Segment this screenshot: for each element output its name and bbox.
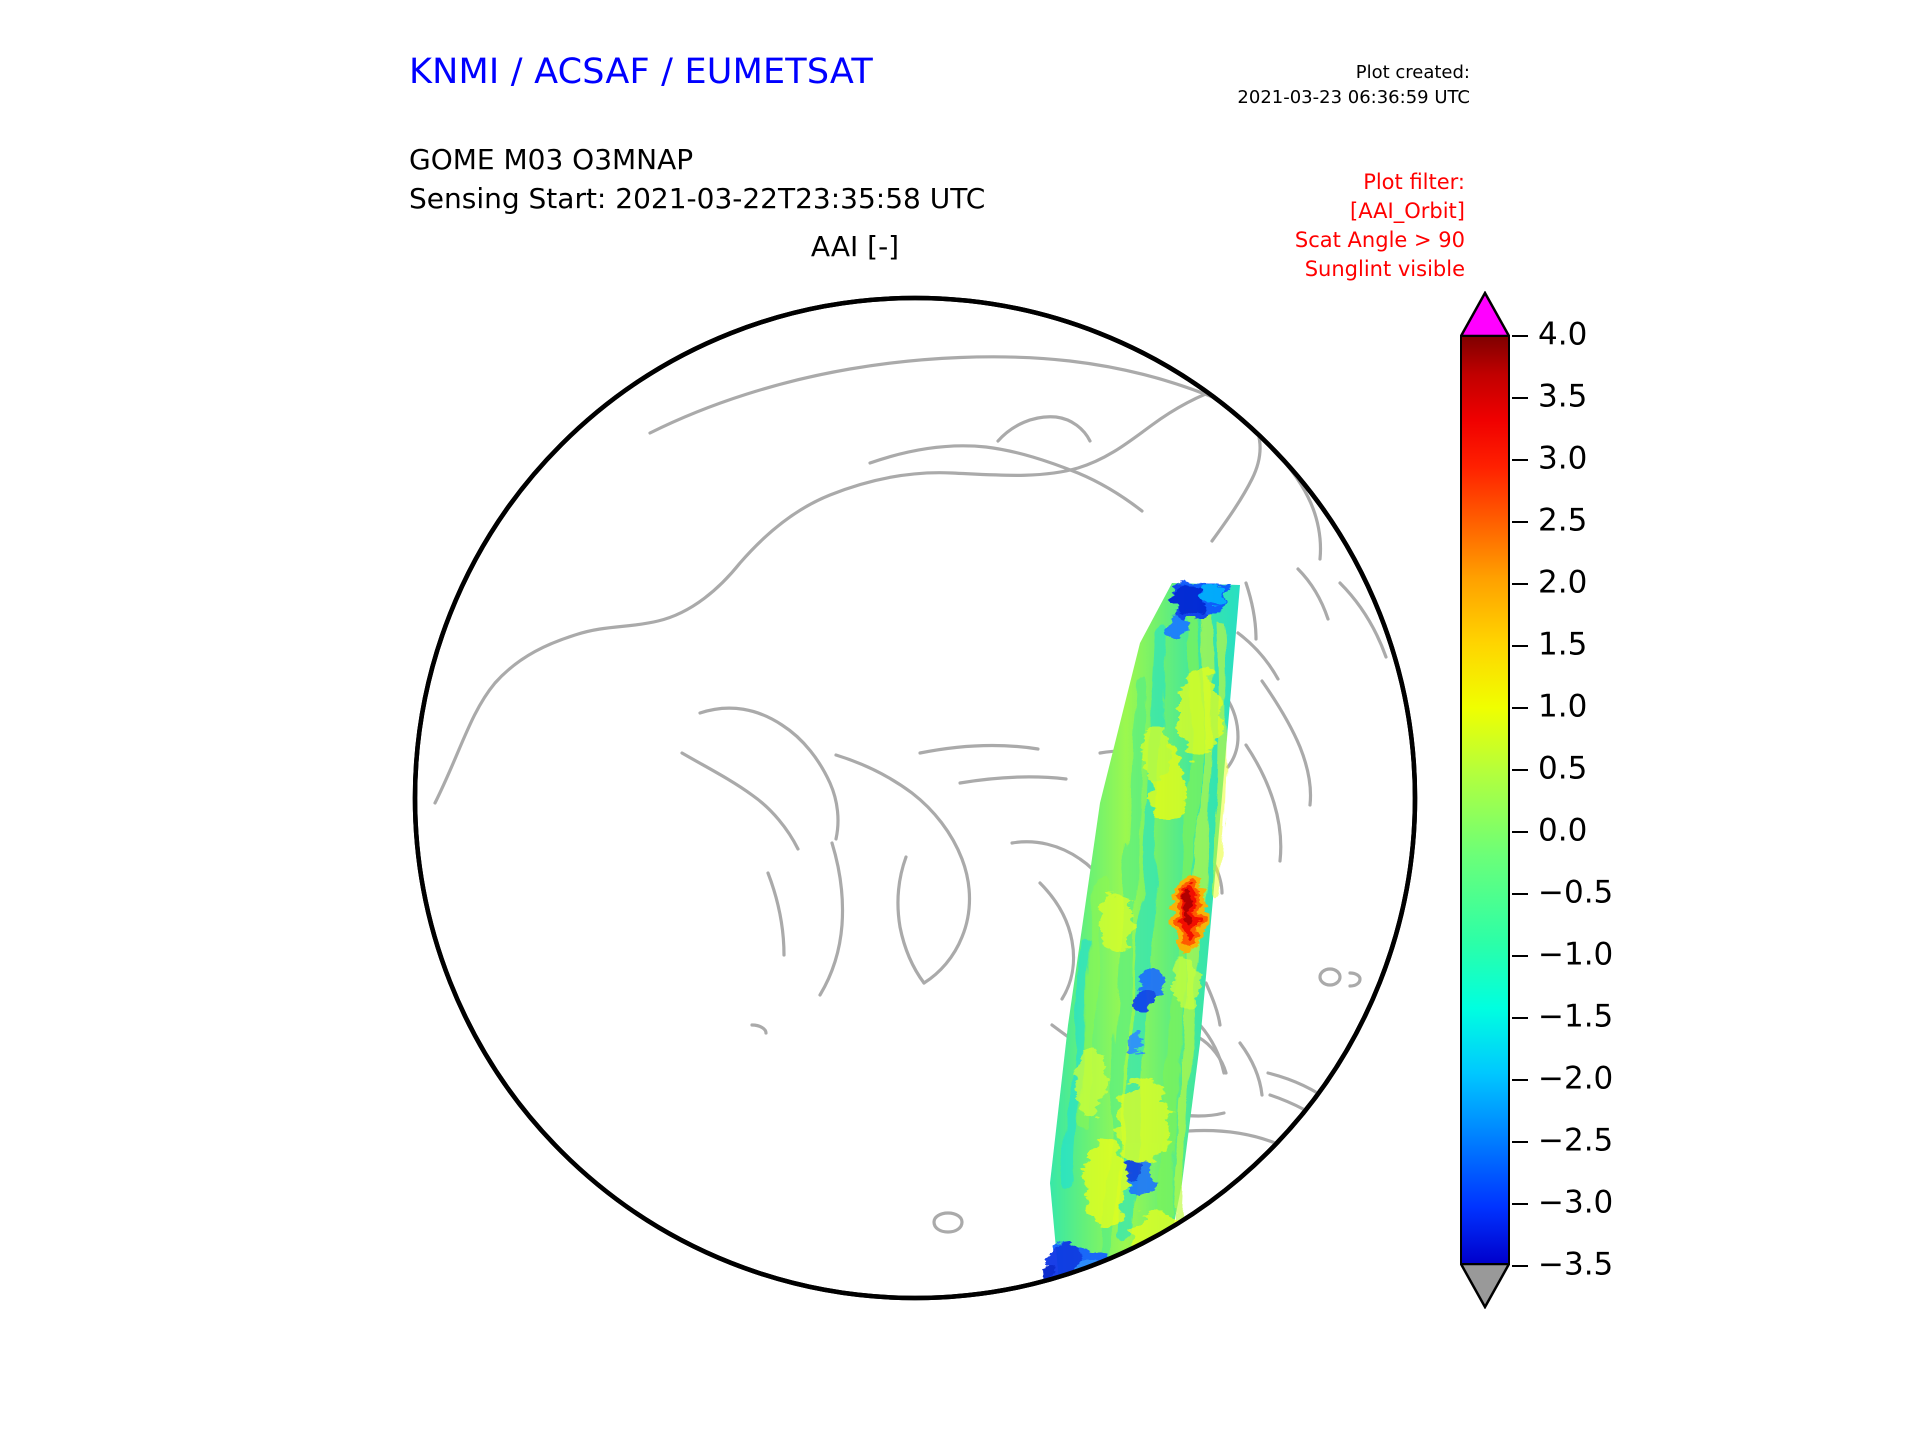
colorbar-over-arrow xyxy=(1460,291,1510,337)
colorbar-tick xyxy=(1512,583,1528,585)
colorbar-tick-label: −3.5 xyxy=(1538,1250,1613,1281)
colorbar-tick xyxy=(1512,397,1528,399)
colorbar-gradient xyxy=(1460,335,1510,1265)
product-name: GOME M03 O3MNAP xyxy=(409,140,985,179)
globe-orthographic-projection xyxy=(400,283,1430,1313)
colorbar[interactable]: 4.03.53.02.52.01.51.00.50.0−0.5−1.0−1.5−… xyxy=(1448,285,1748,1310)
plot-filter-name: [AAI_Orbit] xyxy=(1295,197,1465,226)
colorbar-tick xyxy=(1512,1141,1528,1143)
colorbar-tick xyxy=(1512,707,1528,709)
colorbar-tick xyxy=(1512,1079,1528,1081)
colorbar-tick xyxy=(1512,1017,1528,1019)
quantity-label: AAI [-] xyxy=(811,230,899,263)
colorbar-tick-label: 3.0 xyxy=(1538,444,1587,475)
colorbar-tick-label: −3.0 xyxy=(1538,1188,1613,1219)
colorbar-tick-label: 1.0 xyxy=(1538,692,1587,723)
globe-outline xyxy=(415,298,1415,1298)
colorbar-tick xyxy=(1512,769,1528,771)
product-info-block: GOME M03 O3MNAP Sensing Start: 2021-03-2… xyxy=(409,140,985,218)
colorbar-tick-label: −2.5 xyxy=(1538,1126,1613,1157)
colorbar-tick xyxy=(1512,1265,1528,1267)
colorbar-tick xyxy=(1512,831,1528,833)
plot-filter-condition-scat-angle: Scat Angle > 90 xyxy=(1295,226,1465,255)
colorbar-under-arrow xyxy=(1460,1263,1510,1309)
colorbar-tick xyxy=(1512,1203,1528,1205)
colorbar-tick xyxy=(1512,645,1528,647)
aerosol-plume-hotspot xyxy=(1172,872,1206,952)
colorbar-tick-label: 3.5 xyxy=(1538,382,1587,413)
sensing-start: Sensing Start: 2021-03-22T23:35:58 UTC xyxy=(409,179,985,218)
colorbar-tick-label: −0.5 xyxy=(1538,878,1613,909)
colorbar-tick xyxy=(1512,459,1528,461)
colorbar-tick-label: 2.5 xyxy=(1538,506,1587,537)
colorbar-tick-label: 2.0 xyxy=(1538,568,1587,599)
plot-created-block: Plot created: 2021-03-23 06:36:59 UTC xyxy=(1237,60,1470,110)
colorbar-tick xyxy=(1512,893,1528,895)
colorbar-tick xyxy=(1512,521,1528,523)
colorbar-tick xyxy=(1512,335,1528,337)
organisation-title: KNMI / ACSAF / EUMETSAT xyxy=(409,52,873,92)
colorbar-tick xyxy=(1512,955,1528,957)
plot-created-label: Plot created: xyxy=(1237,60,1470,85)
colorbar-tick-label: 0.0 xyxy=(1538,816,1587,847)
plot-filter-block: Plot filter: [AAI_Orbit] Scat Angle > 90… xyxy=(1295,168,1465,284)
plot-filter-condition-sunglint: Sunglint visible xyxy=(1295,255,1465,284)
colorbar-tick-label: 1.5 xyxy=(1538,630,1587,661)
colorbar-tick-label: −2.0 xyxy=(1538,1064,1613,1095)
colorbar-tick-label: 4.0 xyxy=(1538,320,1587,351)
colorbar-tick-label: −1.5 xyxy=(1538,1002,1613,1033)
colorbar-tick-label: −1.0 xyxy=(1538,940,1613,971)
plot-created-time: 2021-03-23 06:36:59 UTC xyxy=(1237,85,1470,110)
map-panel[interactable] xyxy=(400,283,1430,1313)
colorbar-tick-label: 0.5 xyxy=(1538,754,1587,785)
plot-filter-label: Plot filter: xyxy=(1295,168,1465,197)
